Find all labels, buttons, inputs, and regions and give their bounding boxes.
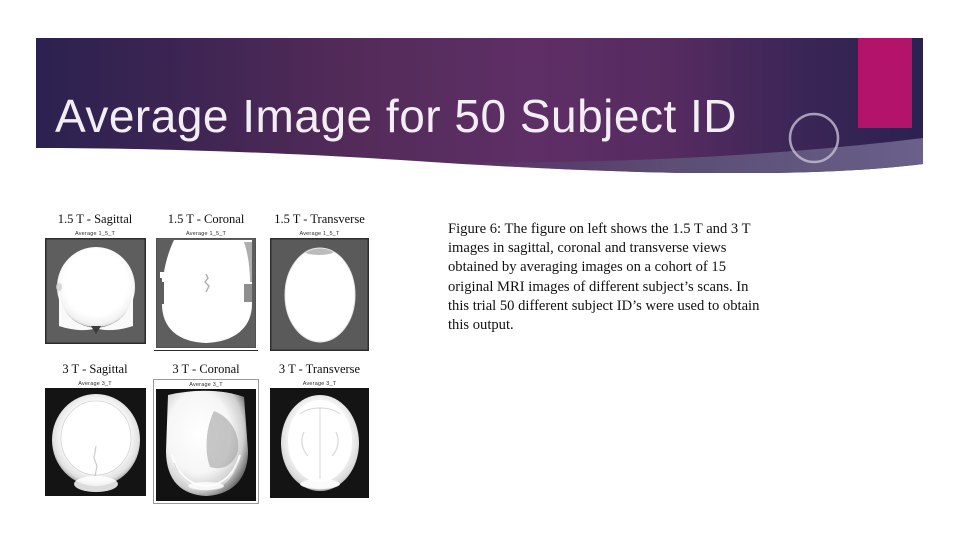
mri-1-5t-coronal[interactable] xyxy=(156,238,256,348)
mri-1-5t-sagittal[interactable] xyxy=(45,238,146,344)
panel-title: 1.5 T - Sagittal xyxy=(58,212,133,227)
panel-box: Average 1_5_T xyxy=(268,229,371,353)
figure-cell-1-5t-coronal: 1.5 T - Coronal Average 1_5_T xyxy=(150,212,262,351)
figure-cell-1-5t-sagittal: 1.5 T - Sagittal Average 1_5_T xyxy=(40,212,150,346)
mri-3t-sagittal[interactable] xyxy=(45,388,146,496)
panel-title: 1.5 T - Coronal xyxy=(168,212,245,227)
panel-box: Average 1_5_T xyxy=(43,229,148,346)
panel-subtitle: Average 1_5_T xyxy=(156,230,256,238)
figure-caption: Figure 6: The figure on left shows the 1… xyxy=(448,220,770,335)
figure-cell-3t-transverse: 3 T - Transverse Average 3_T xyxy=(262,362,377,500)
mri-3t-coronal[interactable] xyxy=(156,389,256,501)
panel-subtitle: Average 1_5_T xyxy=(270,230,369,238)
mri-figure-grid: 1.5 T - Sagittal Average 1_5_T xyxy=(40,212,390,504)
panel-title: 3 T - Coronal xyxy=(172,362,239,377)
panel-subtitle: Average 3_T xyxy=(45,380,146,388)
panel-title: 1.5 T - Transverse xyxy=(274,212,365,227)
panel-subtitle: Average 3_T xyxy=(156,381,256,389)
accent-bar xyxy=(858,38,912,128)
figure-row-3t: 3 T - Sagittal Average 3_T xyxy=(40,362,390,504)
figure-cell-3t-coronal: 3 T - Coronal Average 3_T xyxy=(150,362,262,504)
panel-subtitle: Average 3_T xyxy=(270,380,369,388)
panel-subtitle: Average 1_5_T xyxy=(45,230,146,238)
figure-cell-3t-sagittal: 3 T - Sagittal Average 3_T xyxy=(40,362,150,498)
mri-3t-transverse[interactable] xyxy=(270,388,369,498)
panel-title: 3 T - Transverse xyxy=(279,362,360,377)
panel-title: 3 T - Sagittal xyxy=(62,362,127,377)
panel-box: Average 3_T xyxy=(268,379,371,500)
panel-box: Average 3_T xyxy=(43,379,148,498)
mri-1-5t-transverse[interactable] xyxy=(270,238,369,351)
panel-box: Average 1_5_T xyxy=(154,229,258,351)
figure-cell-1-5t-transverse: 1.5 T - Transverse Average 1_5_T xyxy=(262,212,377,353)
panel-box: Average 3_T xyxy=(153,379,259,504)
figure-row-1-5t: 1.5 T - Sagittal Average 1_5_T xyxy=(40,212,390,353)
page-title: Average Image for 50 Subject ID xyxy=(55,90,855,142)
